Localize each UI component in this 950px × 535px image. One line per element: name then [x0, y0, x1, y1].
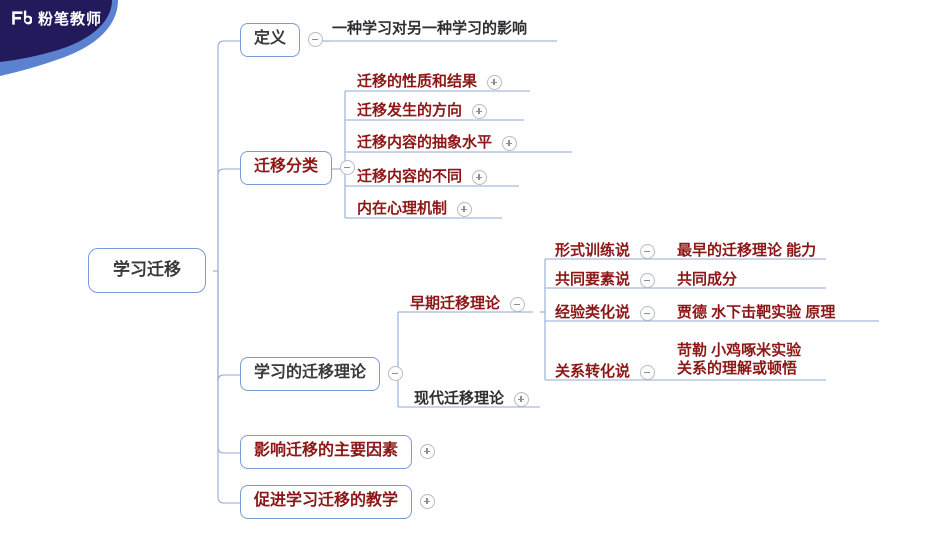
collapse-toggle-relationship-transposition[interactable]	[640, 365, 655, 380]
branch-node-promoting-teaching[interactable]: 促进学习迁移的教学	[240, 485, 435, 519]
expand-toggle-influencing-factors[interactable]	[420, 444, 435, 459]
branch-label-definition: 定义	[240, 23, 300, 57]
detail-label-formal-discipline: 最早的迁移理论 能力	[673, 241, 820, 263]
leaf-label-content-difference: 迁移内容的不同	[353, 167, 466, 189]
leaf-label-nature-and-result: 迁移的性质和结果	[353, 72, 481, 94]
leaf-node-modern-theories[interactable]: 现代迁移理论	[410, 389, 529, 411]
leaf-node-definition-text[interactable]: 一种学习对另一种学习的影响	[328, 19, 531, 41]
detail-line-2: 关系的理解或顿悟	[677, 360, 797, 377]
detail-line-1: 苛勒 小鸡啄米实验	[677, 342, 801, 359]
branch-label-promoting-teaching: 促进学习迁移的教学	[240, 485, 412, 519]
leaf-label-formal-discipline: 形式训练说	[551, 241, 634, 263]
collapse-toggle-formal-discipline[interactable]	[640, 244, 655, 259]
branch-label-transfer-classification: 迁移分类	[240, 151, 332, 185]
collapse-toggle-transfer-theories[interactable]	[388, 366, 403, 381]
leaf-label-relationship-transposition: 关系转化说	[551, 362, 634, 384]
leaf-label-internal-mechanism: 内在心理机制	[353, 199, 451, 221]
detail-node-generalization[interactable]: 贾德 水下击靶实验 原理	[673, 303, 839, 325]
expand-toggle-internal-mechanism[interactable]	[457, 202, 472, 217]
expand-toggle-abstraction-level[interactable]	[502, 136, 517, 151]
expand-toggle-promoting-teaching[interactable]	[420, 494, 435, 509]
detail-node-formal-discipline[interactable]: 最早的迁移理论 能力	[673, 241, 820, 263]
leaf-node-direction[interactable]: 迁移发生的方向	[353, 101, 487, 123]
detail-label-identical-elements: 共同成分	[673, 270, 741, 292]
leaf-label-early-theories: 早期迁移理论	[406, 294, 504, 316]
collapse-toggle-early-theories[interactable]	[510, 297, 525, 312]
detail-node-relationship-transposition[interactable]: 苛勒 小鸡啄米实验 关系的理解或顿悟	[673, 341, 805, 380]
leaf-label-direction: 迁移发生的方向	[353, 101, 466, 123]
leaf-node-formal-discipline[interactable]: 形式训练说	[551, 241, 655, 263]
leaf-node-generalization[interactable]: 经验类化说	[551, 303, 655, 325]
root-node-label: 学习迁移	[88, 248, 206, 293]
expand-toggle-nature-and-result[interactable]	[487, 75, 502, 90]
root-node[interactable]: 学习迁移	[88, 248, 206, 293]
leaf-node-early-theories[interactable]: 早期迁移理论	[406, 294, 525, 316]
expand-toggle-modern-theories[interactable]	[514, 392, 529, 407]
leaf-label-modern-theories: 现代迁移理论	[410, 389, 508, 411]
collapse-toggle-definition[interactable]	[308, 32, 323, 47]
expand-toggle-content-difference[interactable]	[472, 170, 487, 185]
detail-label-relationship-transposition: 苛勒 小鸡啄米实验 关系的理解或顿悟	[673, 341, 805, 380]
leaf-label-abstraction-level: 迁移内容的抽象水平	[353, 133, 496, 155]
leaf-node-nature-and-result[interactable]: 迁移的性质和结果	[353, 72, 502, 94]
leaf-node-identical-elements[interactable]: 共同要素说	[551, 270, 655, 292]
leaf-label-identical-elements: 共同要素说	[551, 270, 634, 292]
branch-node-transfer-classification[interactable]: 迁移分类	[240, 151, 355, 185]
mindmap-canvas: 学习迁移 定义 一种学习对另一种学习的影响 迁移分类 迁移的性质和结果 迁移发生…	[0, 0, 950, 535]
detail-label-generalization: 贾德 水下击靶实验 原理	[673, 303, 839, 325]
detail-node-identical-elements[interactable]: 共同成分	[673, 270, 741, 292]
leaf-node-abstraction-level[interactable]: 迁移内容的抽象水平	[353, 133, 517, 155]
branch-node-influencing-factors[interactable]: 影响迁移的主要因素	[240, 435, 435, 469]
leaf-node-relationship-transposition[interactable]: 关系转化说	[551, 362, 655, 384]
expand-toggle-direction[interactable]	[472, 104, 487, 119]
collapse-toggle-generalization[interactable]	[640, 306, 655, 321]
branch-label-transfer-theories: 学习的迁移理论	[240, 357, 380, 391]
branch-node-definition[interactable]: 定义	[240, 23, 323, 57]
leaf-label-definition-text: 一种学习对另一种学习的影响	[328, 19, 531, 41]
branch-node-transfer-theories[interactable]: 学习的迁移理论	[240, 357, 403, 391]
branch-label-influencing-factors: 影响迁移的主要因素	[240, 435, 412, 469]
leaf-node-content-difference[interactable]: 迁移内容的不同	[353, 167, 487, 189]
collapse-toggle-identical-elements[interactable]	[640, 273, 655, 288]
leaf-node-internal-mechanism[interactable]: 内在心理机制	[353, 199, 472, 221]
leaf-label-generalization: 经验类化说	[551, 303, 634, 325]
